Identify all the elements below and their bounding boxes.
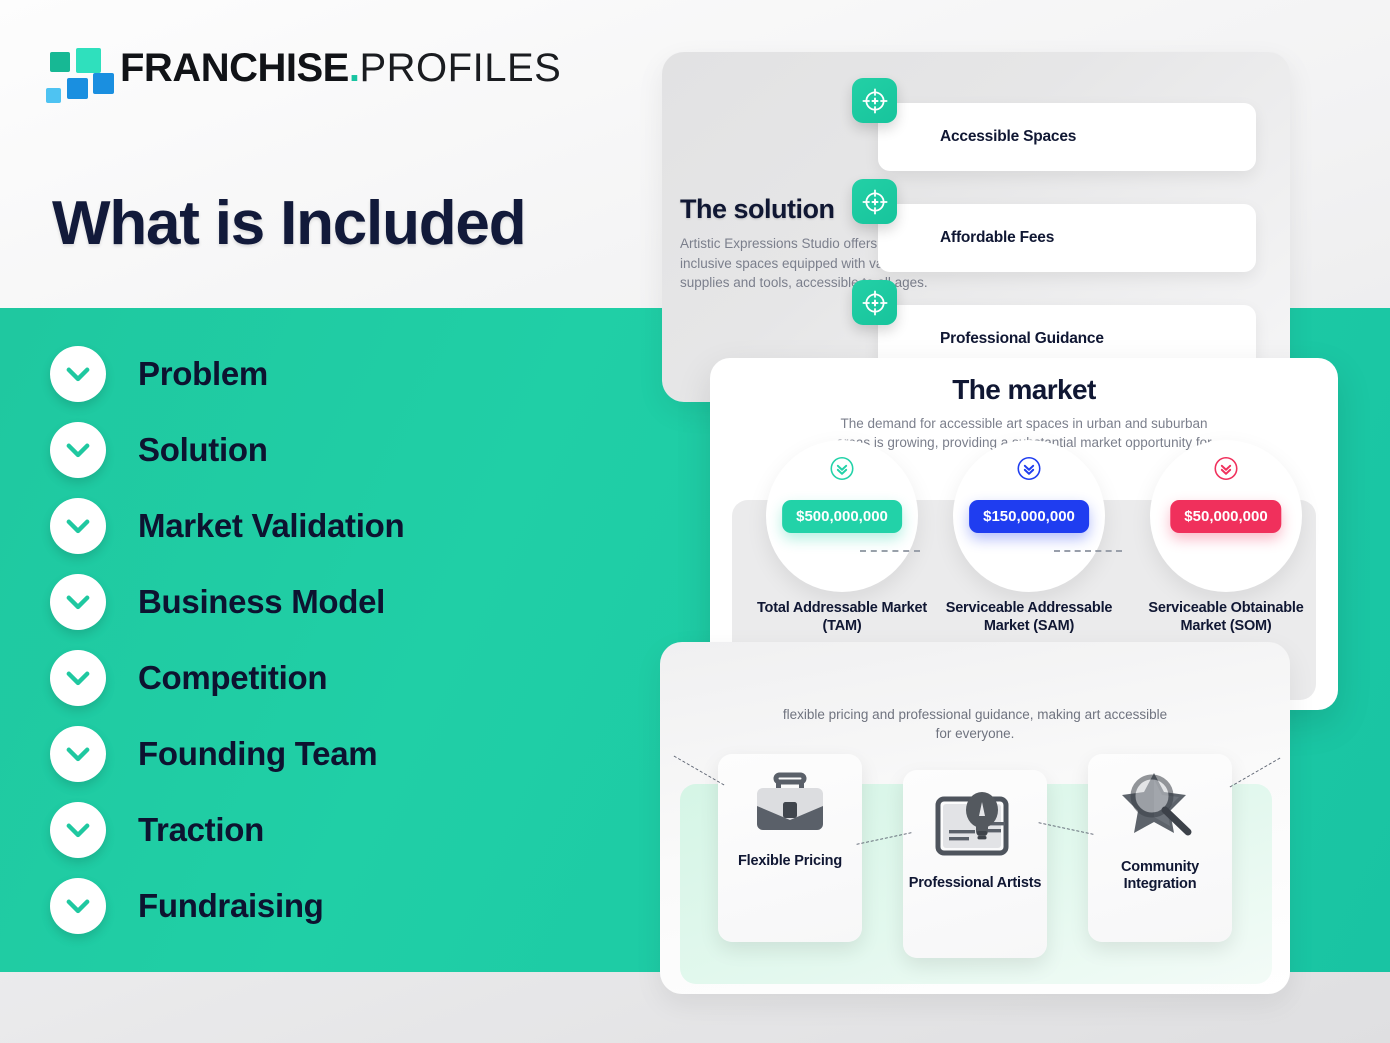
toc-item-label: Business Model xyxy=(138,583,385,621)
double-chevron-down-icon xyxy=(1017,456,1042,486)
brand-name-light: PROFILES xyxy=(359,46,561,90)
solution-item-label: Affordable Fees xyxy=(940,229,1054,247)
toc-item-label: Traction xyxy=(138,811,264,849)
target-icon xyxy=(852,78,897,123)
benefit-card[interactable]: Community Integration xyxy=(1088,754,1232,942)
benefits-card: flexible pricing and professional guidan… xyxy=(660,642,1290,994)
brand-logo[interactable]: FRANCHISE.PROFILES xyxy=(46,48,566,108)
market-connector-dash xyxy=(860,550,920,552)
toc-item-solution[interactable]: Solution xyxy=(50,421,570,479)
toc-item-label: Competition xyxy=(138,659,327,697)
market-title: The market xyxy=(710,374,1338,406)
toc-item-label: Market Validation xyxy=(138,507,404,545)
benefit-card-label: Flexible Pricing xyxy=(738,853,842,870)
benefit-card-label: Community Integration xyxy=(1088,859,1232,894)
chevron-down-icon[interactable] xyxy=(50,346,106,402)
benefit-connector-dash xyxy=(1230,758,1281,788)
chevron-down-icon[interactable] xyxy=(50,422,106,478)
lightbulb-certificate-icon xyxy=(932,786,1018,865)
briefcase-icon xyxy=(751,770,829,843)
benefits-description: flexible pricing and professional guidan… xyxy=(775,706,1175,743)
toc-item-market-validation[interactable]: Market Validation xyxy=(50,497,570,555)
chevron-down-icon[interactable] xyxy=(50,726,106,782)
market-segment-name: Serviceable Obtainable Market (SOM) xyxy=(1126,600,1326,635)
toc-item-traction[interactable]: Traction xyxy=(50,801,570,859)
solution-item-label: Professional Guidance xyxy=(940,330,1104,348)
chevron-down-icon[interactable] xyxy=(50,650,106,706)
toc-item-business-model[interactable]: Business Model xyxy=(50,573,570,631)
chevron-down-icon[interactable] xyxy=(50,802,106,858)
brand-name-bold: FRANCHISE xyxy=(120,46,349,90)
toc-item-competition[interactable]: Competition xyxy=(50,649,570,707)
solution-item-box[interactable]: Accessible Spaces xyxy=(878,103,1256,171)
solution-item-box[interactable]: Affordable Fees xyxy=(878,204,1256,272)
benefit-connector-dash xyxy=(674,756,725,786)
logo-square-teal-dark xyxy=(50,52,70,72)
double-chevron-down-icon xyxy=(1214,456,1239,486)
toc-item-label: Solution xyxy=(138,431,268,469)
brand-name-dot: . xyxy=(349,46,360,90)
logo-square-blue-mid xyxy=(67,78,88,99)
benefit-card[interactable]: Professional Artists xyxy=(903,770,1047,958)
logo-square-blue-right xyxy=(93,73,114,94)
star-magnifier-icon xyxy=(1116,770,1204,849)
market-connector-dash xyxy=(1054,550,1122,552)
market-segment-value: $50,000,000 xyxy=(1170,500,1281,533)
solution-card: The solution Artistic Expressions Studio… xyxy=(662,52,1290,402)
logo-square-blue-light xyxy=(46,88,61,103)
toc-item-label: Fundraising xyxy=(138,887,324,925)
double-chevron-down-icon xyxy=(830,456,855,486)
chevron-down-icon[interactable] xyxy=(50,498,106,554)
toc-item-founding-team[interactable]: Founding Team xyxy=(50,725,570,783)
benefit-card-label: Professional Artists xyxy=(909,875,1041,892)
toc-item-problem[interactable]: Problem xyxy=(50,345,570,403)
toc-item-label: Founding Team xyxy=(138,735,377,773)
market-segment-value: $500,000,000 xyxy=(782,500,902,533)
market-segment-name: Total Addressable Market (TAM) xyxy=(742,600,942,635)
chevron-down-icon[interactable] xyxy=(50,574,106,630)
solution-title: The solution xyxy=(680,194,834,225)
table-of-contents: ProblemSolutionMarket ValidationBusiness… xyxy=(50,345,570,953)
toc-item-label: Problem xyxy=(138,355,268,393)
market-segment-value: $150,000,000 xyxy=(969,500,1089,533)
benefit-card[interactable]: Flexible Pricing xyxy=(718,754,862,942)
target-icon xyxy=(852,179,897,224)
chevron-down-icon[interactable] xyxy=(50,878,106,934)
market-segment-name: Serviceable Addressable Market (SAM) xyxy=(929,600,1129,635)
page-title: What is Included xyxy=(52,188,525,259)
logo-square-teal-bright xyxy=(76,48,101,73)
brand-wordmark: FRANCHISE.PROFILES xyxy=(120,46,561,91)
target-icon xyxy=(852,280,897,325)
toc-item-fundraising[interactable]: Fundraising xyxy=(50,877,570,935)
solution-item-label: Accessible Spaces xyxy=(940,128,1076,146)
